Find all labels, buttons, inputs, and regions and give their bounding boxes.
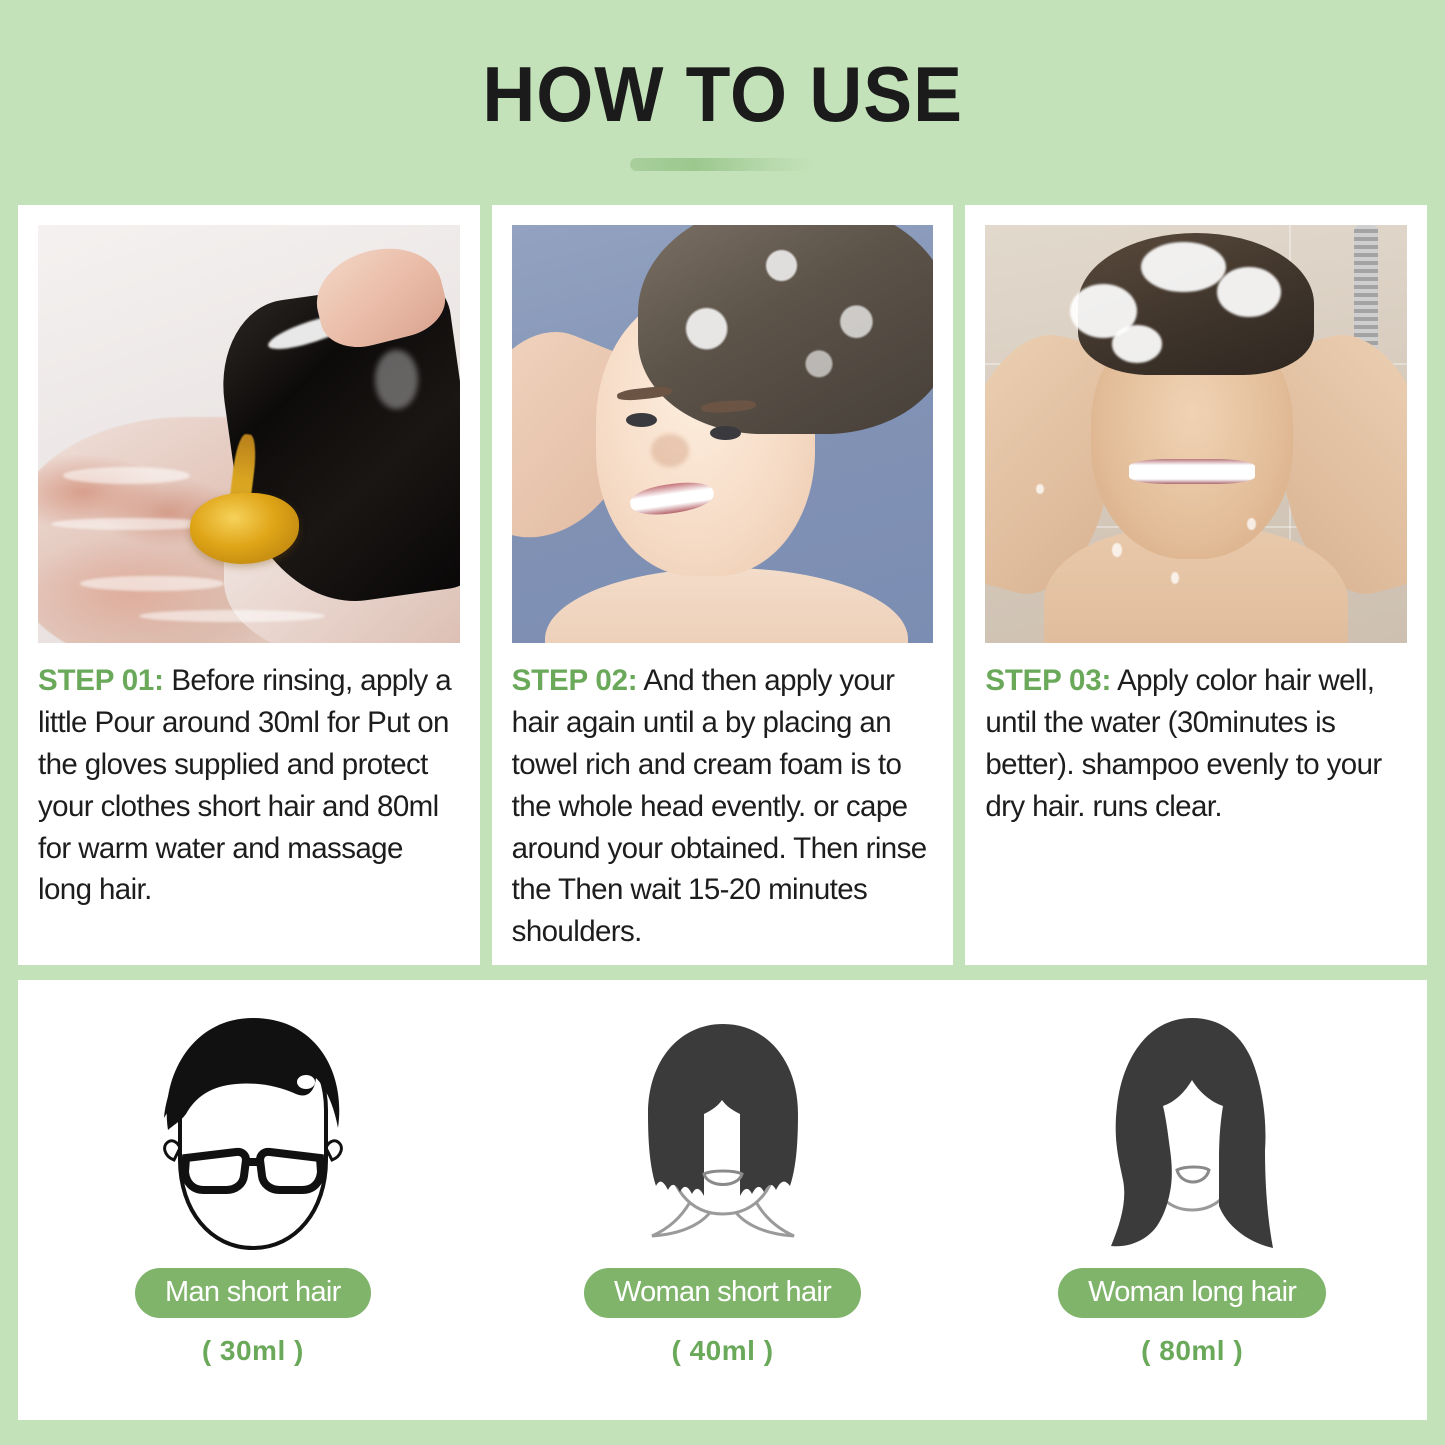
- woman-short-hair-figure: [608, 1002, 838, 1260]
- glove-wrinkle: [80, 576, 223, 591]
- hair-type-label-pill[interactable]: Woman short hair: [584, 1268, 861, 1318]
- shampoo-foam: [1217, 267, 1280, 317]
- hair-type-label-pill[interactable]: Woman long hair: [1058, 1268, 1326, 1318]
- step-3-photo: [985, 225, 1407, 643]
- page-header: HOW TO USE: [0, 0, 1445, 205]
- hair-type-amount: ( 40ml ): [671, 1335, 773, 1367]
- step-2-label: STEP 02:: [512, 664, 638, 697]
- hair-type-woman-long: Woman long hair ( 80ml ): [957, 1002, 1427, 1402]
- step-card-1: STEP 01: Before rinsing, apply a little …: [18, 205, 480, 965]
- water-droplet: [1112, 543, 1122, 557]
- woman-long-hair-icon: [1077, 1010, 1307, 1260]
- bottle-highlight: [375, 350, 417, 409]
- steps-row: STEP 01: Before rinsing, apply a little …: [0, 205, 1445, 965]
- step-1-label: STEP 01:: [38, 664, 164, 697]
- shampoo-foam: [1141, 242, 1225, 292]
- hair-types-card: Man short hair ( 30ml ) Woman s: [18, 980, 1427, 1420]
- nose-shadow: [651, 434, 689, 467]
- title-underline-bar: [630, 158, 815, 171]
- step-2-text: STEP 02: And then apply your hair again …: [512, 660, 934, 953]
- hair-type-man-short: Man short hair ( 30ml ): [18, 1002, 488, 1402]
- step-2-body: And then apply your hair again until a b…: [512, 664, 927, 948]
- shampoo-foam: [1112, 325, 1163, 363]
- man-short-hair-icon: [138, 1010, 368, 1260]
- step-card-2: STEP 02: And then apply your hair again …: [492, 205, 954, 965]
- smiling-teeth: [1129, 459, 1256, 484]
- hair-type-woman-short: Woman short hair ( 40ml ): [488, 1002, 958, 1402]
- how-to-use-infographic: HOW TO USE STEP 01:: [0, 0, 1445, 1445]
- woman-long-hair-figure: [1077, 1002, 1307, 1260]
- glove-wrinkle: [51, 518, 211, 531]
- page-title: HOW TO USE: [482, 55, 963, 133]
- eye: [710, 426, 742, 440]
- water-droplet: [1247, 518, 1256, 531]
- step-2-photo: [512, 225, 934, 643]
- foamy-hair-shape: [638, 225, 933, 434]
- step-1-body: Before rinsing, apply a little Pour arou…: [38, 664, 451, 906]
- water-droplet: [1036, 484, 1044, 494]
- water-droplet: [1171, 572, 1179, 584]
- hair-type-amount: ( 30ml ): [202, 1335, 304, 1367]
- step-card-3: STEP 03: Apply color hair well, until th…: [965, 205, 1427, 965]
- hair-types-section: Man short hair ( 30ml ) Woman s: [0, 980, 1445, 1420]
- glove-wrinkle: [139, 610, 325, 623]
- step-3-label: STEP 03:: [985, 664, 1111, 697]
- step-1-photo: [38, 225, 460, 643]
- hair-type-amount: ( 80ml ): [1141, 1335, 1243, 1367]
- step-3-text: STEP 03: Apply color hair well, until th…: [985, 660, 1407, 828]
- woman-short-hair-icon: [608, 1010, 838, 1260]
- step-1-text: STEP 01: Before rinsing, apply a little …: [38, 660, 460, 911]
- hair-type-label-pill[interactable]: Man short hair: [135, 1268, 371, 1318]
- man-short-hair-figure: [138, 1002, 368, 1260]
